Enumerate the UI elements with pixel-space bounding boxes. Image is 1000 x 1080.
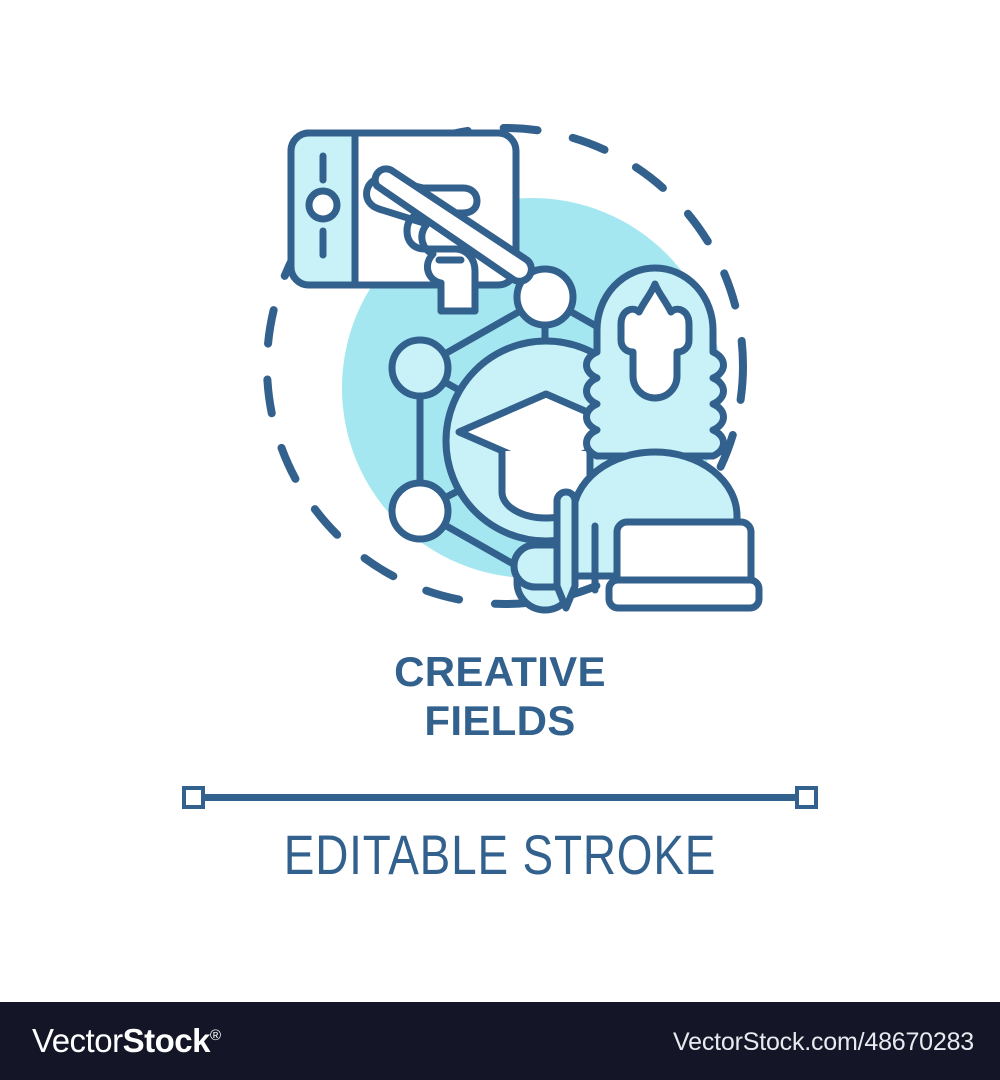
- concept-title-line-2: FIELDS: [0, 697, 1000, 746]
- network-node-lower-left: [392, 483, 448, 539]
- brand-name-thin: Vector: [32, 1022, 123, 1059]
- tablet-button-icon: [309, 191, 337, 219]
- concept-title-line-1: CREATIVE: [0, 648, 1000, 697]
- pencil-icon: [557, 492, 575, 608]
- source-url: VectorStock.com/48670283: [673, 1030, 974, 1055]
- vectorstock-logo: VectorStock®: [32, 1024, 221, 1057]
- creative-fields-concept-icon: [240, 98, 770, 628]
- stroke-handle-right-icon[interactable]: [795, 786, 818, 809]
- footer-bar: VectorStock® VectorStock.com/48670283: [0, 1002, 1000, 1080]
- pencil-holder-icon: [514, 545, 557, 587]
- stroke-handle-left-icon[interactable]: [182, 786, 205, 809]
- brand-name-bold: Stock: [123, 1022, 210, 1059]
- page-root: CREATIVE FIELDS EDITABLE STROKE VectorSt…: [0, 0, 1000, 1080]
- concept-title: CREATIVE FIELDS: [0, 648, 1000, 745]
- editable-stroke-demo: [182, 786, 818, 810]
- editable-stroke-label: EDITABLE STROKE: [90, 822, 910, 887]
- stroke-line: [203, 794, 797, 801]
- laptop-icon: [609, 522, 759, 608]
- registered-trademark-icon: ®: [210, 1027, 221, 1044]
- network-node-upper-left: [392, 340, 448, 396]
